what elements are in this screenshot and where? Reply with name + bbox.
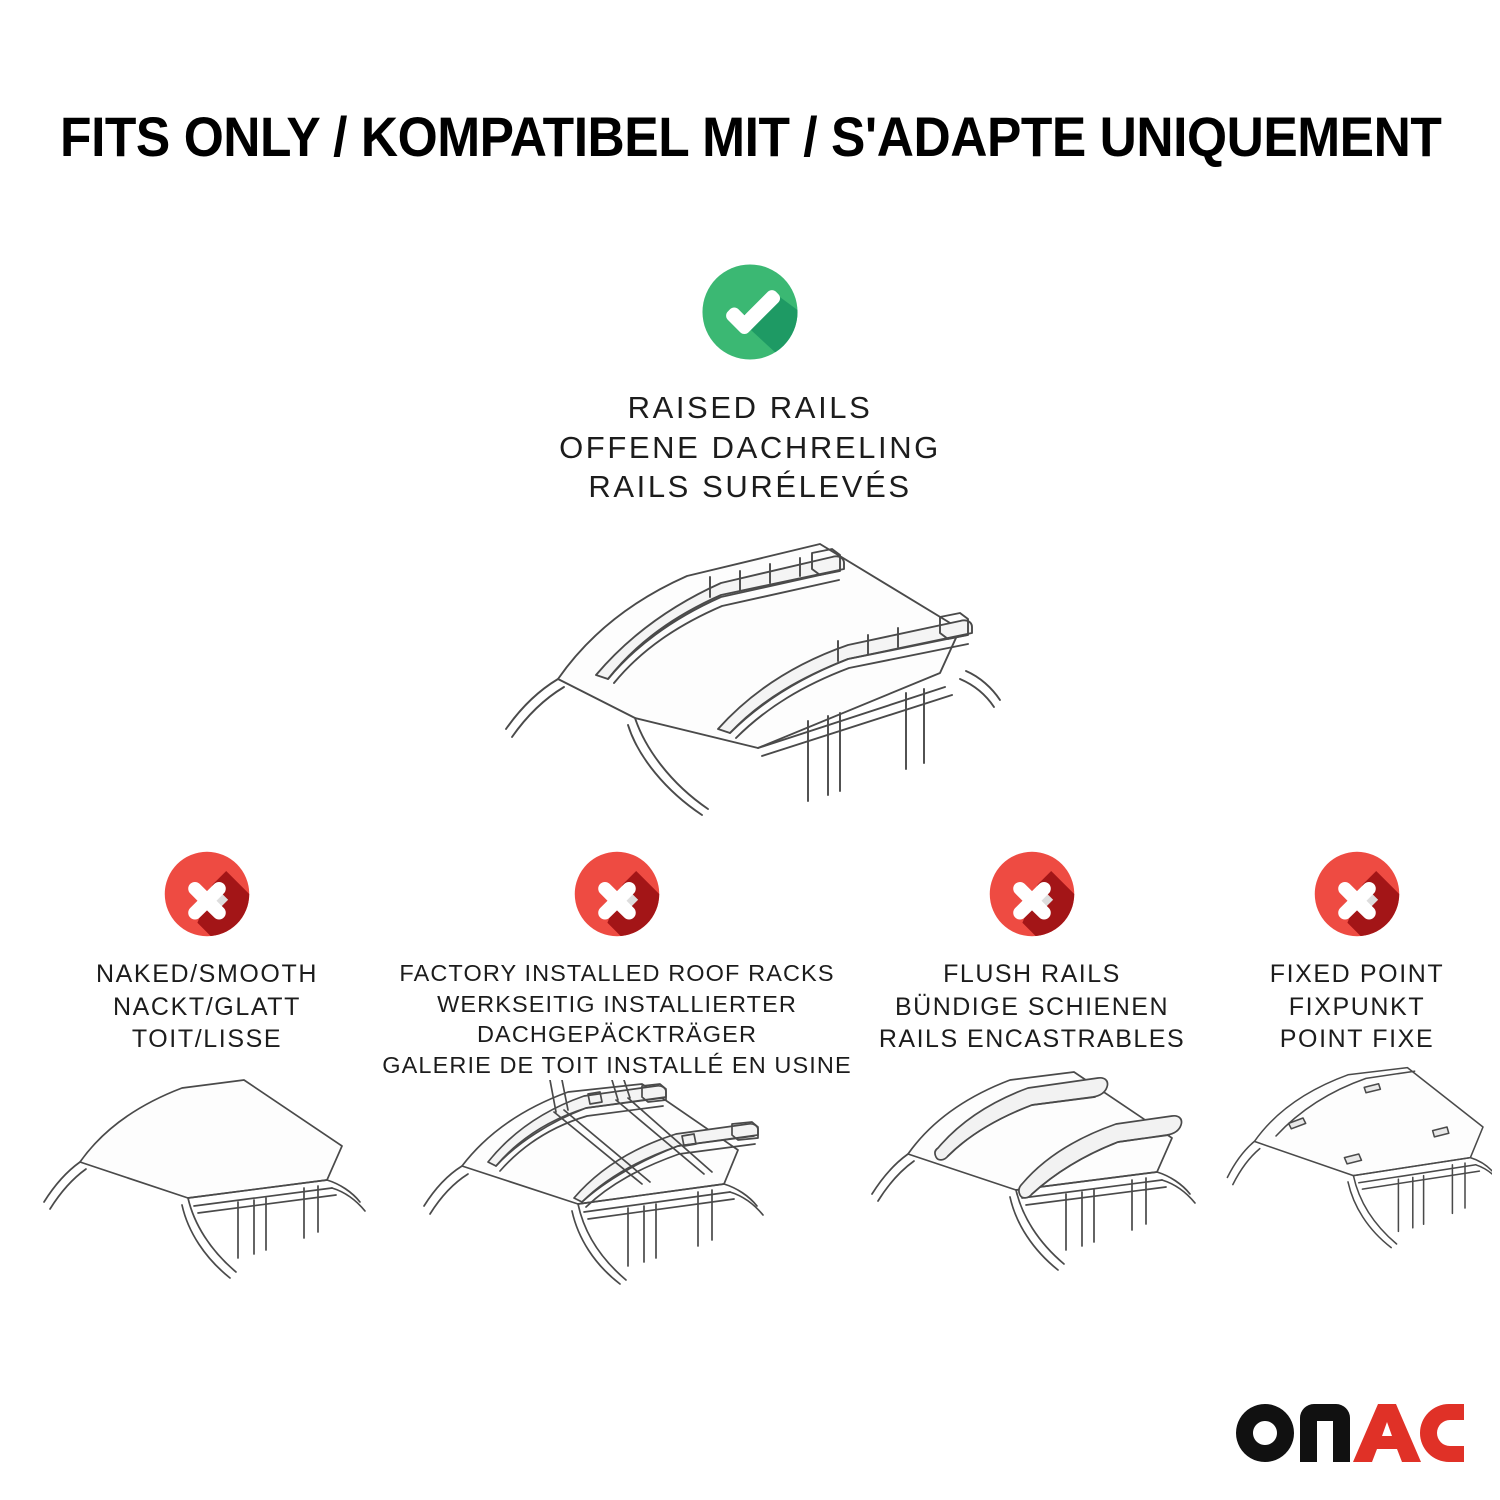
- page-title-text: FITS ONLY / KOMPATIBEL MIT / S'ADAPTE UN…: [60, 104, 1441, 169]
- label-fr: TOIT/LISSE: [96, 1023, 318, 1056]
- omac-logo-svg: [1232, 1400, 1464, 1470]
- car-roof-naked-smooth-illustration: [22, 1072, 392, 1302]
- label-de-2: DACHGEPÄCKTRÄGER: [382, 1019, 851, 1050]
- label-fr: POINT FIXE: [1270, 1023, 1445, 1056]
- x-circle-icon: [569, 846, 665, 942]
- label-fr: RAILS ENCASTRABLES: [879, 1023, 1185, 1056]
- car-roof-flush-rails-illustration: [852, 1064, 1212, 1294]
- x-circle-icon: [1309, 846, 1405, 942]
- incompatible-caption-naked-smooth: NAKED/SMOOTH NACKT/GLATT TOIT/LISSE: [96, 958, 318, 1056]
- approved-label-en: RAISED RAILS: [559, 388, 941, 428]
- car-roof-fixed-point-illustration: [1222, 1064, 1492, 1294]
- label-de: NACKT/GLATT: [96, 991, 318, 1024]
- check-circle-icon-svg: [696, 258, 804, 366]
- car-roof-raised-rails-svg: [440, 533, 1060, 823]
- approved-section: RAISED RAILS OFFENE DACHRELING RAILS SUR…: [0, 258, 1500, 823]
- incompatible-caption-flush-rails: FLUSH RAILS BÜNDIGE SCHIENEN RAILS ENCAS…: [879, 958, 1185, 1056]
- label-en: NAKED/SMOOTH: [96, 958, 318, 991]
- car-roof-factory-racks-svg: [392, 1080, 842, 1310]
- incompatible-item-flush-rails: FLUSH RAILS BÜNDIGE SCHIENEN RAILS ENCAS…: [852, 846, 1212, 1294]
- label-de-1: WERKSEITIG INSTALLIERTER: [382, 989, 851, 1020]
- label-fr: GALERIE DE TOIT INSTALLÉ EN USINE: [382, 1050, 851, 1081]
- incompatible-caption-fixed-point: FIXED POINT FIXPUNKT POINT FIXE: [1270, 958, 1445, 1056]
- x-circle-icon-svg: [984, 846, 1080, 942]
- incompatible-section: NAKED/SMOOTH NACKT/GLATT TOIT/LISSE: [0, 846, 1500, 1310]
- label-de: FIXPUNKT: [1270, 991, 1445, 1024]
- incompatible-caption-factory-racks: FACTORY INSTALLED ROOF RACKS WERKSEITIG …: [382, 958, 851, 1080]
- approved-label-fr: RAILS SURÉLEVÉS: [559, 467, 941, 507]
- logo-letter-a: [1353, 1404, 1421, 1462]
- x-circle-icon-svg: [159, 846, 255, 942]
- x-circle-icon-svg: [1309, 846, 1405, 942]
- label-de: BÜNDIGE SCHIENEN: [879, 991, 1185, 1024]
- x-circle-icon-svg: [569, 846, 665, 942]
- approved-label-de: OFFENE DACHRELING: [559, 428, 941, 468]
- logo-letter-m: [1300, 1404, 1350, 1462]
- car-roof-raised-rails-illustration: [440, 533, 1060, 823]
- incompatible-item-naked-smooth: NAKED/SMOOTH NACKT/GLATT TOIT/LISSE: [22, 846, 392, 1302]
- car-roof-naked-smooth-svg: [22, 1072, 392, 1302]
- logo-letter-c: [1420, 1404, 1464, 1462]
- label-en: FLUSH RAILS: [879, 958, 1185, 991]
- car-roof-fixed-point-svg: [1222, 1064, 1492, 1271]
- omac-logo: [1232, 1400, 1464, 1470]
- label-en: FACTORY INSTALLED ROOF RACKS: [382, 958, 851, 989]
- check-circle-icon: [696, 258, 804, 366]
- x-circle-icon: [984, 846, 1080, 942]
- page-title: FITS ONLY / KOMPATIBEL MIT / S'ADAPTE UN…: [0, 104, 1500, 169]
- label-en: FIXED POINT: [1270, 958, 1445, 991]
- incompatible-item-fixed-point: FIXED POINT FIXPUNKT POINT FIXE: [1222, 846, 1492, 1294]
- logo-letter-o: [1236, 1404, 1294, 1462]
- incompatible-item-factory-racks: FACTORY INSTALLED ROOF RACKS WERKSEITIG …: [392, 846, 842, 1310]
- car-roof-factory-racks-illustration: [392, 1080, 842, 1310]
- x-circle-icon: [159, 846, 255, 942]
- car-roof-flush-rails-svg: [852, 1064, 1212, 1294]
- approved-caption: RAISED RAILS OFFENE DACHRELING RAILS SUR…: [559, 388, 941, 507]
